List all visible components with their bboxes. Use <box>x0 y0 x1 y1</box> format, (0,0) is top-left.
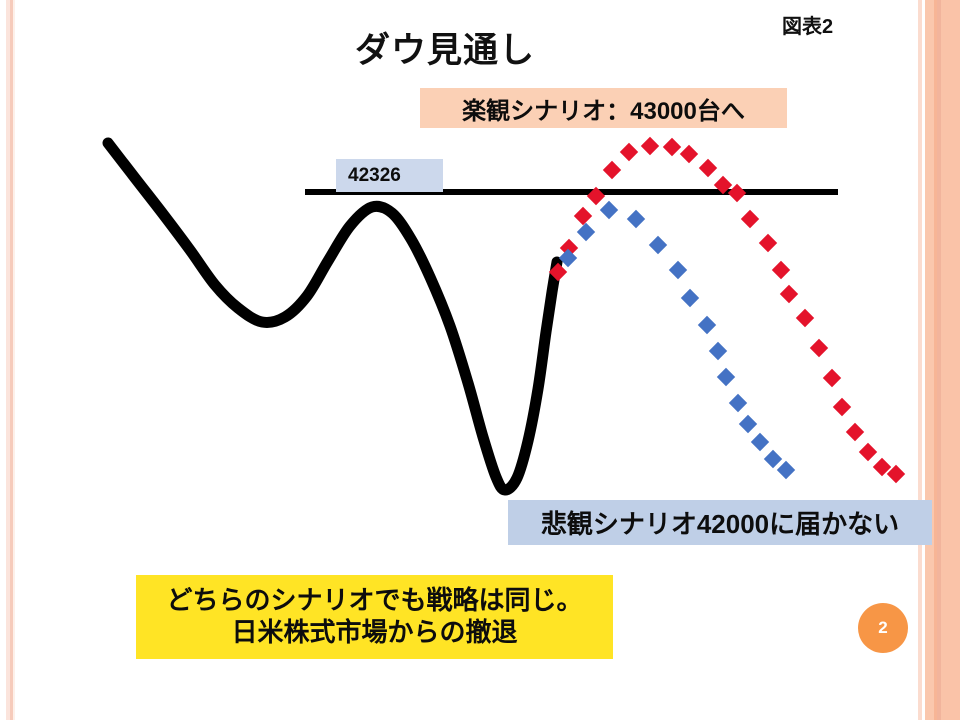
series-marker <box>649 236 667 254</box>
series-marker <box>759 234 777 252</box>
series-marker <box>772 261 790 279</box>
series-marker <box>603 161 621 179</box>
callout-pessimistic-scenario: 悲観シナリオ42000に届かない <box>508 500 932 545</box>
series-marker <box>709 342 727 360</box>
callout-strategy-line1: どちらのシナリオでも戦略は同じ。 <box>166 585 582 617</box>
series-line <box>108 143 557 490</box>
callout-optimistic-scenario: 楽観シナリオ：43000台へ <box>420 88 787 128</box>
series-marker <box>574 207 592 225</box>
series-marker <box>681 289 699 307</box>
series-marker <box>729 394 747 412</box>
series-marker <box>741 210 759 228</box>
series-marker <box>669 261 687 279</box>
chart-series-group <box>108 137 905 490</box>
series-marker <box>764 450 782 468</box>
figure-label: 図表2 <box>782 10 833 39</box>
series-marker <box>751 433 769 451</box>
series-marker <box>577 223 595 241</box>
series-marker <box>777 461 795 479</box>
series-marker <box>833 398 851 416</box>
series-marker <box>600 201 618 219</box>
series-marker <box>641 137 659 155</box>
series-marker <box>780 285 798 303</box>
series-marker <box>698 316 716 334</box>
series-marker <box>627 210 645 228</box>
series-marker <box>680 145 698 163</box>
series-marker <box>699 159 717 177</box>
slide-canvas: ダウ見通し 図表2 楽観シナリオ：43000台へ 42326 悲観シナリオ420… <box>0 0 960 720</box>
series-marker <box>810 339 828 357</box>
series-marker <box>663 138 681 156</box>
series-marker <box>796 309 814 327</box>
reference-level-badge: 42326 <box>336 159 443 192</box>
series-marker <box>620 143 638 161</box>
page-title: ダウ見通し <box>355 22 535 73</box>
series-marker <box>823 369 841 387</box>
series-marker <box>859 443 877 461</box>
page-number-badge: 2 <box>858 603 908 653</box>
series-marker <box>717 368 735 386</box>
series-marker <box>846 423 864 441</box>
callout-strategy: どちらのシナリオでも戦略は同じ。 日米株式市場からの撤退 <box>136 575 613 659</box>
callout-strategy-line2: 日米株式市場からの撤退 <box>231 617 517 649</box>
series-marker <box>739 415 757 433</box>
